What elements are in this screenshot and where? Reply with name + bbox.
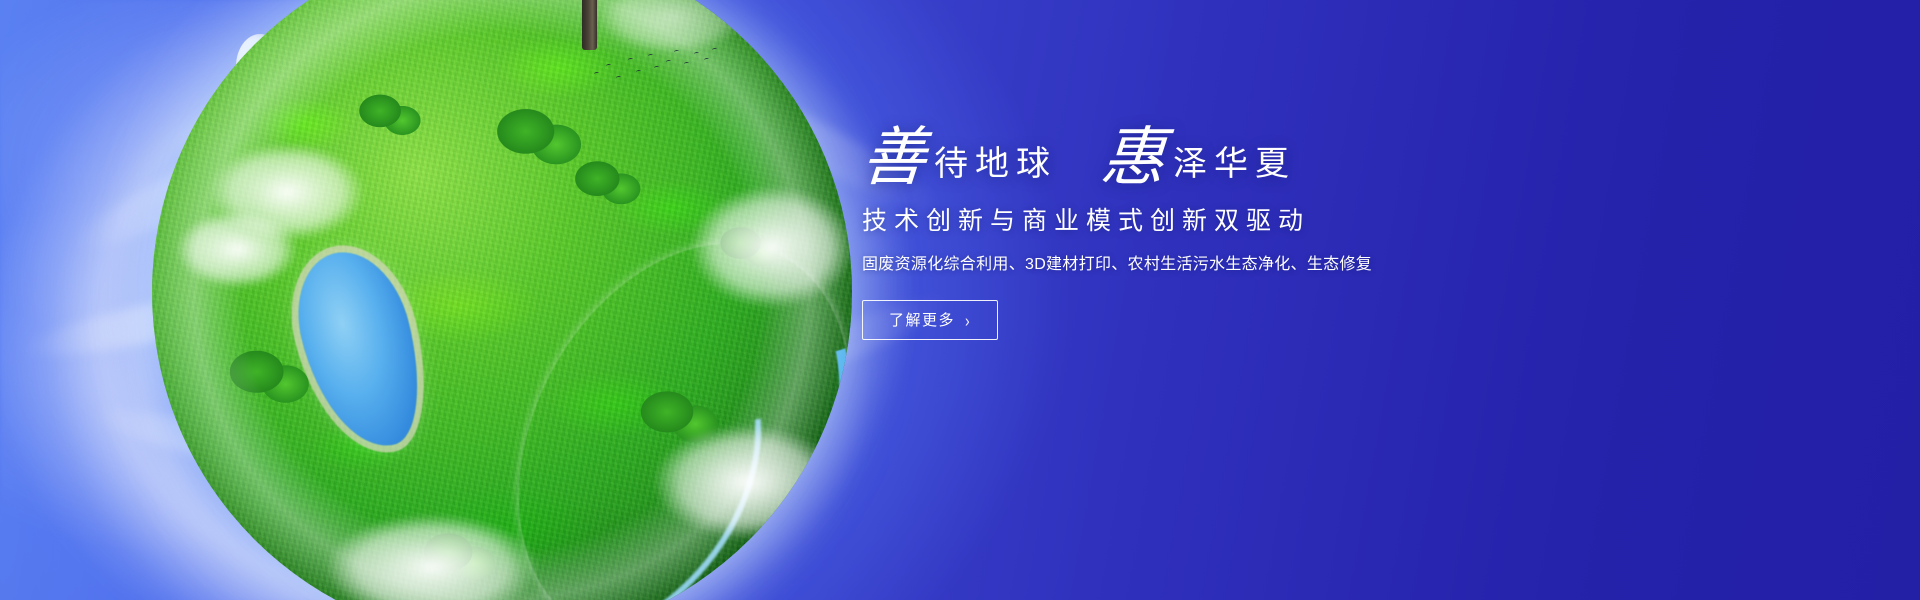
headline-part2-big: 惠 [1099, 126, 1167, 190]
banner-description: 固废资源化综合利用、3D建材打印、农村生活污水生态净化、生态修复 [862, 254, 1562, 276]
hero-banner: 善 待地球 惠 泽华夏 技术创新与商业模式创新双驱动 固废资源化综合利用、3D建… [0, 0, 1920, 600]
tree-trunk [582, 0, 597, 50]
globe-sphere [152, 0, 852, 600]
headline-part1-big: 善 [860, 126, 928, 190]
chevron-right-icon: › [965, 310, 971, 330]
learn-more-button[interactable]: 了解更多 › [862, 300, 998, 340]
headline: 善 待地球 惠 泽华夏 [862, 126, 1562, 190]
tree-cluster-4 [224, 333, 320, 421]
globe-cloud-2 [162, 202, 312, 297]
tree-on-globe-icon [470, 0, 710, 46]
learn-more-label: 了解更多 [889, 309, 955, 330]
tree-cluster-3 [570, 147, 649, 220]
tree-cluster-1 [355, 81, 429, 149]
bird-flock-icon [592, 46, 722, 92]
banner-content: 善 待地球 惠 泽华夏 技术创新与商业模式创新双驱动 固废资源化综合利用、3D建… [862, 126, 1562, 340]
globe [152, 0, 852, 600]
banner-subtitle: 技术创新与商业模式创新双驱动 [862, 206, 1562, 236]
globe-cloud-4 [632, 412, 852, 552]
headline-part2-small: 泽华夏 [1165, 148, 1296, 190]
headline-part1-small: 待地球 [926, 148, 1057, 190]
